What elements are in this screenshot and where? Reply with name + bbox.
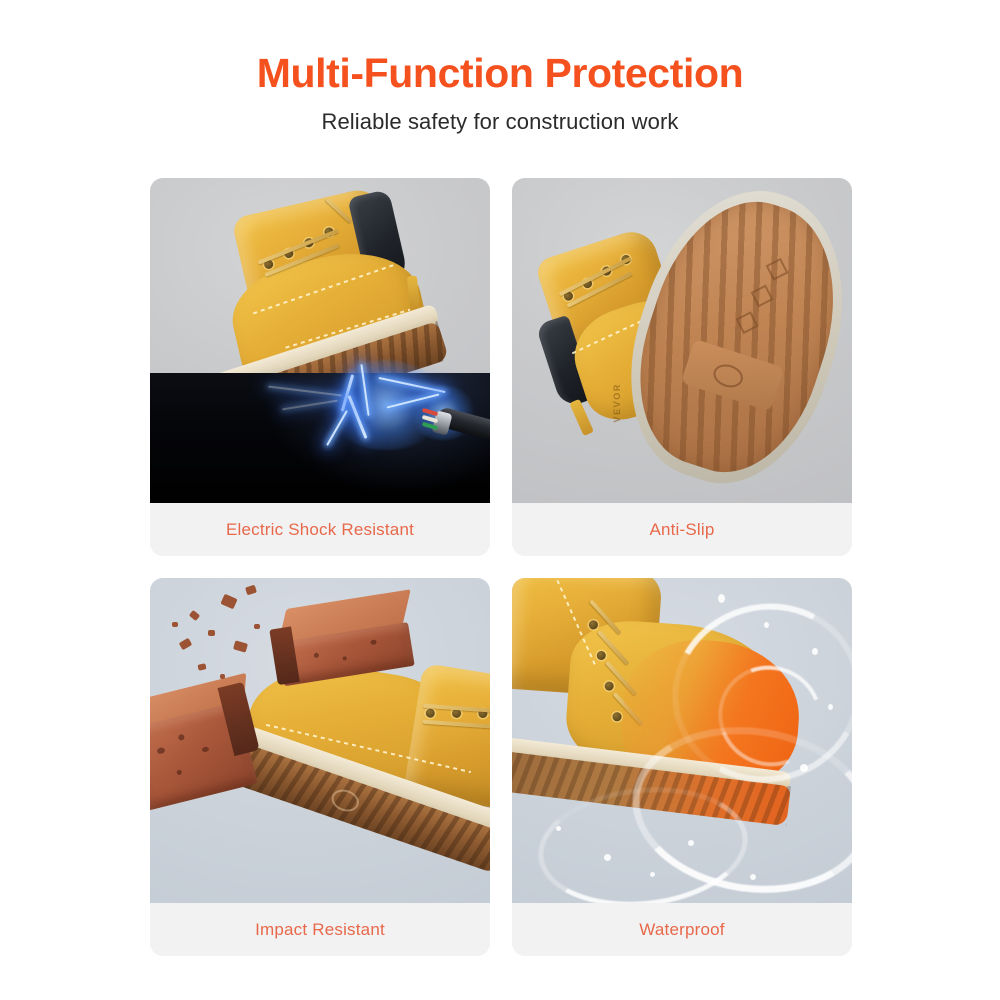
page-subtitle: Reliable safety for construction work	[0, 109, 1000, 135]
water-droplet	[828, 704, 833, 710]
feature-card-electric-shock-resistant[interactable]: VEVOR	[150, 178, 490, 556]
feature-caption: Electric Shock Resistant	[150, 503, 490, 556]
water-droplet	[604, 854, 611, 861]
feature-caption: Waterproof	[512, 903, 852, 956]
water-droplet	[812, 648, 818, 655]
feature-caption: Anti-Slip	[512, 503, 852, 556]
water-droplet	[718, 594, 725, 603]
water-droplet	[764, 622, 769, 628]
feature-card-impact-resistant[interactable]: VEVOR	[150, 578, 490, 956]
debris-fragment	[254, 624, 260, 629]
water-droplet	[800, 764, 808, 772]
water-droplet	[556, 826, 561, 831]
boot-pull-tab	[407, 276, 420, 311]
feature-image-anti-slip: VEVOR	[512, 178, 852, 503]
water-droplet	[750, 874, 756, 880]
water-droplet	[688, 840, 694, 846]
feature-card-anti-slip[interactable]: VEVOR Anti-Slip	[512, 178, 852, 556]
water-droplet	[650, 872, 655, 877]
feature-card-waterproof[interactable]: Waterproof	[512, 578, 852, 956]
debris-fragment	[172, 622, 178, 627]
page-header: Multi-Function Protection Reliable safet…	[0, 0, 1000, 135]
debris-fragment	[208, 630, 215, 636]
feature-image-waterproof	[512, 578, 852, 903]
feature-caption: Impact Resistant	[150, 903, 490, 956]
feature-image-electric-shock-resistant: VEVOR	[150, 178, 490, 503]
feature-image-impact-resistant: VEVOR	[150, 578, 490, 903]
feature-card-grid: VEVOR	[150, 178, 852, 956]
page-title: Multi-Function Protection	[0, 52, 1000, 95]
debris-fragment	[220, 674, 225, 679]
product-feature-page: Multi-Function Protection Reliable safet…	[0, 0, 1000, 1000]
